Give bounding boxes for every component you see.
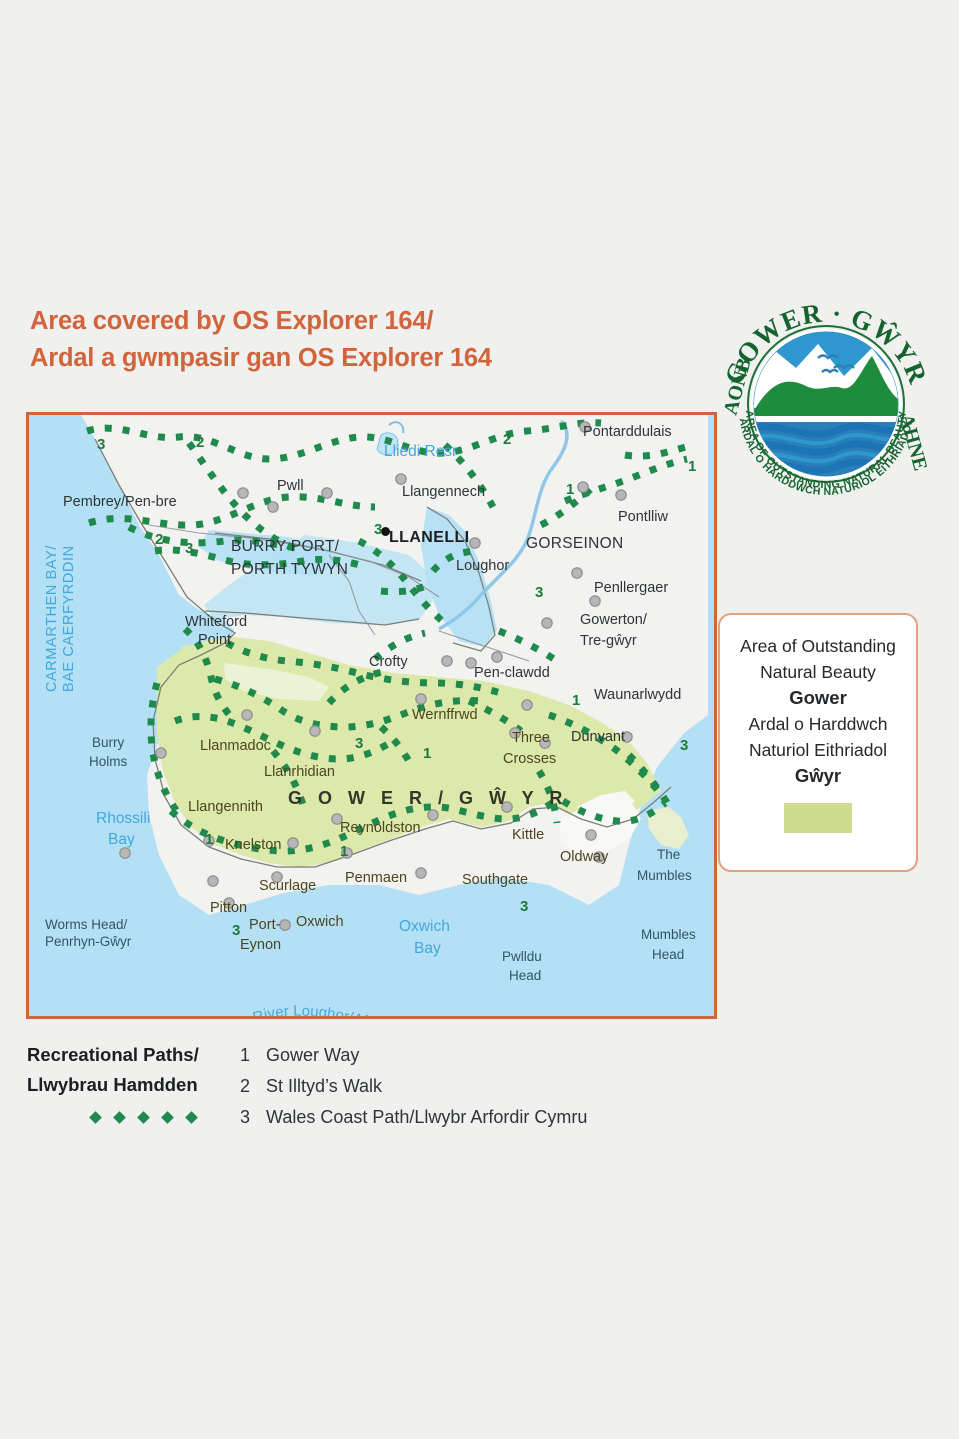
bay-label-line1: CARMARTHEN BAY/ bbox=[44, 545, 60, 692]
path-legend-number-2: 2 bbox=[240, 1071, 266, 1102]
path-legend-row: 2St Illtyd’s Walk bbox=[240, 1071, 587, 1102]
river-loughor-label: River Loughor/Afon Llwchwr bbox=[253, 1001, 483, 1019]
paths-title-line1: Recreational Paths/ bbox=[27, 1040, 199, 1070]
paths-legend-title: Recreational Paths/ Llwybrau Hamdden bbox=[27, 1040, 199, 1100]
legend-line-4: Ardal o Harddwch bbox=[748, 711, 887, 737]
svg-text:River Loughor/Afon Llwchwr: River Loughor/Afon Llwchwr bbox=[251, 1003, 442, 1019]
path-legend-number-1: 1 bbox=[240, 1040, 266, 1071]
map-geometry bbox=[29, 415, 708, 1010]
legend-line-3: Gower bbox=[789, 685, 847, 711]
map-canvas[interactable]: River Loughor/Afon Llwchwr bbox=[26, 412, 717, 1019]
path-legend-row: 1Gower Way bbox=[240, 1040, 587, 1071]
title-line-2: Ardal a gwmpasir gan OS Explorer 164 bbox=[30, 340, 590, 377]
paths-title-line2: Llwybrau Hamdden bbox=[27, 1070, 199, 1100]
bay-label-line2: BAE CAERFYRDDIN bbox=[61, 545, 77, 692]
aonb-colour-swatch bbox=[784, 803, 852, 833]
path-legend-row: 3Wales Coast Path/Llwybr Arfordir Cymru bbox=[240, 1102, 587, 1133]
legend-line-1: Area of Outstanding bbox=[740, 633, 896, 659]
llanelli-dot bbox=[381, 527, 390, 536]
page-title: Area covered by OS Explorer 164/ Ardal a… bbox=[30, 303, 590, 377]
path-legend-name-2: St Illtyd’s Walk bbox=[266, 1071, 382, 1102]
path-symbol-sample bbox=[89, 1110, 209, 1131]
path-legend-name-1: Gower Way bbox=[266, 1040, 359, 1071]
aonb-legend-box: Area of Outstanding Natural Beauty Gower… bbox=[718, 613, 918, 872]
paths-legend-items: 1Gower Way2St Illtyd’s Walk3Wales Coast … bbox=[240, 1040, 587, 1133]
legend-line-2: Natural Beauty bbox=[760, 659, 876, 685]
map-page: Area covered by OS Explorer 164/ Ardal a… bbox=[0, 0, 959, 1439]
legend-line-5: Naturiol Eithriadol bbox=[749, 737, 887, 763]
carmarthen-bay-label: CARMARTHEN BAY/ BAE CAERFYRDDIN bbox=[44, 545, 78, 692]
path-legend-name-3: Wales Coast Path/Llwybr Arfordir Cymru bbox=[266, 1102, 587, 1133]
legend-line-6: Gŵyr bbox=[795, 763, 841, 789]
aonb-logo: GOWER · GŴYR AONB AHNE AREA OF OUTSTANDI… bbox=[722, 298, 930, 506]
title-line-1: Area covered by OS Explorer 164/ bbox=[30, 303, 590, 340]
path-legend-number-3: 3 bbox=[240, 1102, 266, 1133]
